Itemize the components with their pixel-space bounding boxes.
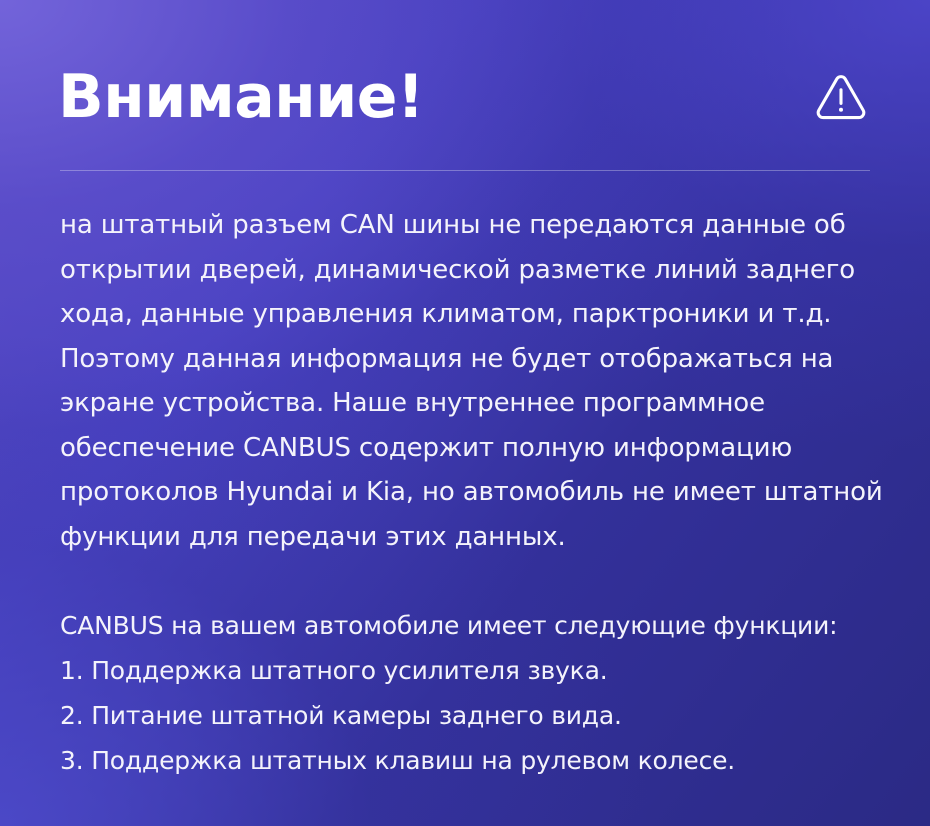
header-divider (60, 170, 870, 171)
list-item: 3. Поддержка штатных клавиш на рулевом к… (60, 738, 880, 783)
intro-line: протоколов Hyundai и Kia, но автомобиль … (60, 470, 880, 515)
notice-body: на штатный разъем CAN шины не передаются… (60, 203, 880, 783)
intro-line: функции для передачи этих данных. (60, 515, 880, 560)
functions-heading: CANBUS на вашем автомобиле имеет следующ… (60, 603, 880, 648)
warning-notice-card: Внимание! на штатный разъем CAN шины не … (0, 0, 930, 826)
notice-header: Внимание! (58, 52, 872, 142)
functions-block: CANBUS на вашем автомобиле имеет следующ… (60, 603, 880, 783)
intro-line: открытии дверей, динамической разметке л… (60, 248, 880, 293)
warning-triangle-icon (812, 68, 870, 126)
intro-line: обеспечение CANBUS содержит полную инфор… (60, 426, 880, 471)
functions-list: 1. Поддержка штатного усилителя звука. 2… (60, 648, 880, 783)
intro-line: Поэтому данная информация не будет отобр… (60, 337, 880, 382)
intro-line: экране устройства. Наше внутреннее прогр… (60, 381, 880, 426)
intro-line: хода, данные управления климатом, парктр… (60, 292, 880, 337)
list-item: 1. Поддержка штатного усилителя звука. (60, 648, 880, 693)
list-item: 2. Питание штатной камеры заднего вида. (60, 693, 880, 738)
intro-line: на штатный разъем CAN шины не передаются… (60, 203, 880, 248)
intro-paragraph: на штатный разъем CAN шины не передаются… (60, 203, 880, 559)
page-title: Внимание! (58, 67, 424, 127)
